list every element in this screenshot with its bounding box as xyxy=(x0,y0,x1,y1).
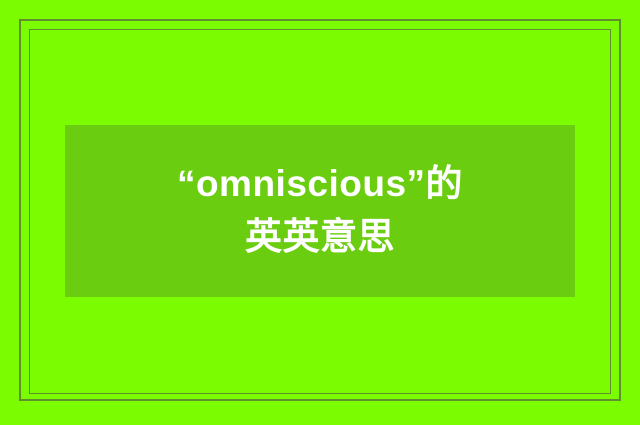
banner-canvas: “omniscious”的英英意思 xyxy=(0,0,640,425)
page-title: “omniscious”的英英意思 xyxy=(170,158,470,263)
title-panel: “omniscious”的英英意思 xyxy=(65,125,575,297)
